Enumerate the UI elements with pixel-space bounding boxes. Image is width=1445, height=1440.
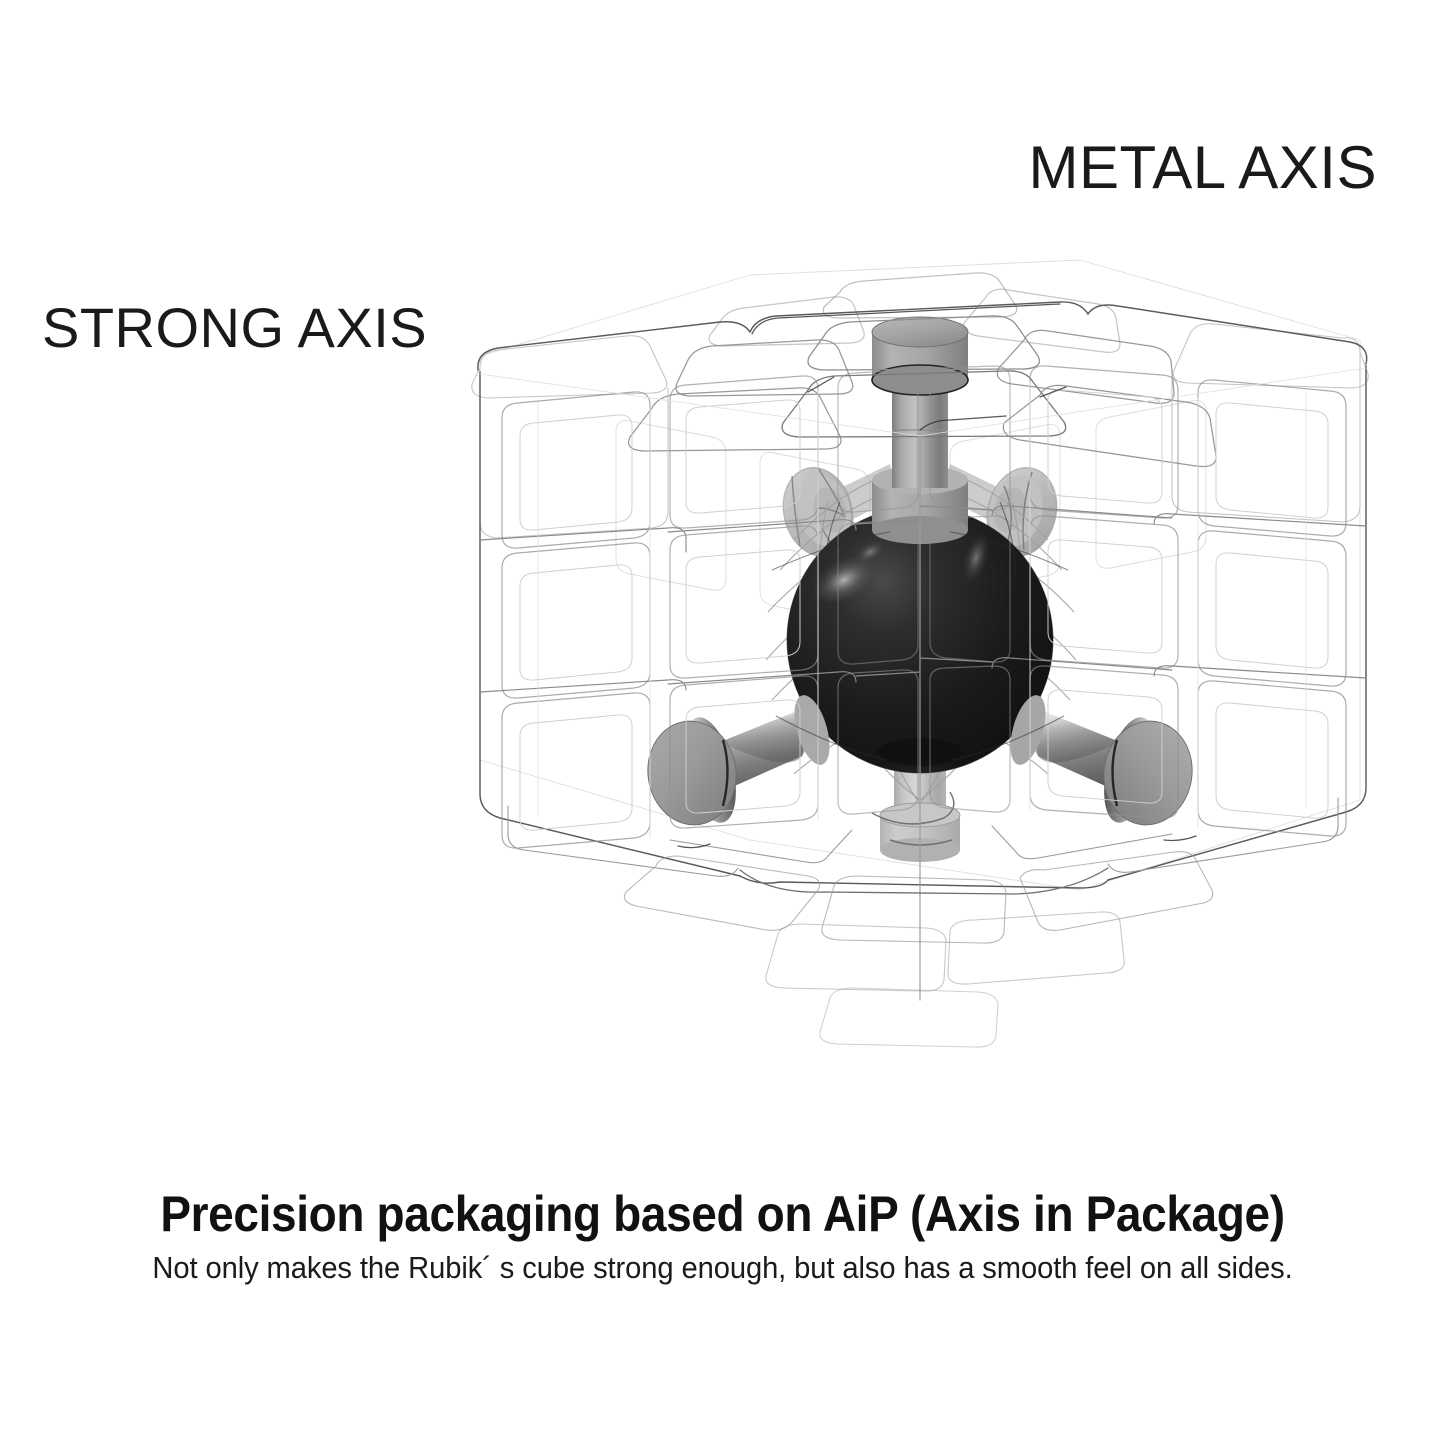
caption-subtitle: Not only makes the Rubik´ s cube strong … (43, 1251, 1401, 1285)
callout-label-metal-axis: METAL AXIS (1029, 138, 1377, 198)
caption-block: Precision packaging based on AiP (Axis i… (0, 1188, 1445, 1285)
figure-stage: METAL AXIS STRONG AXIS (0, 0, 1445, 1440)
caption-title: Precision packaging based on AiP (Axis i… (58, 1188, 1387, 1241)
callout-label-strong-axis: STRONG AXIS (42, 300, 427, 356)
exploded-cube-figure (420, 240, 1420, 1120)
